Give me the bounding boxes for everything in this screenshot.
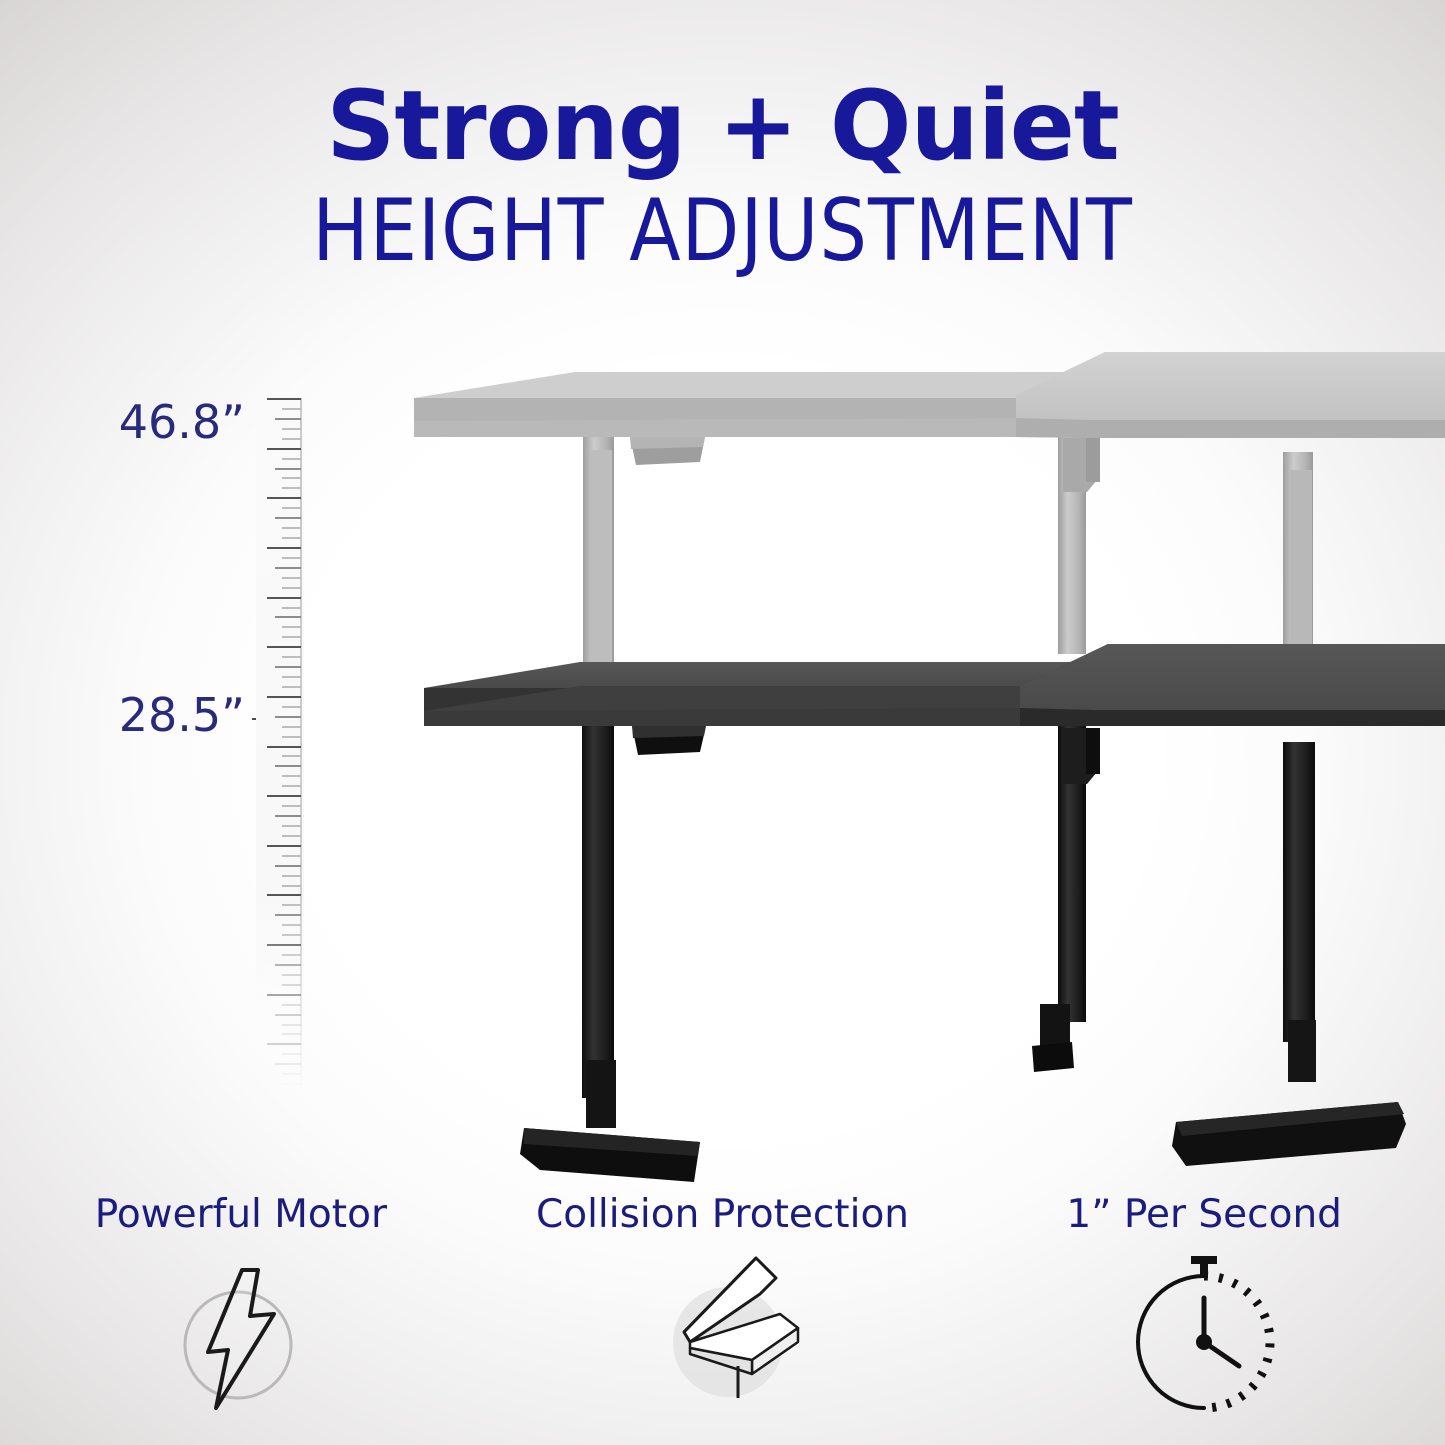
ruler-tick xyxy=(267,795,301,797)
ruler-tick xyxy=(282,438,301,440)
ruler-tick xyxy=(282,1004,301,1006)
ruler-tick xyxy=(282,527,301,529)
ruler-tick xyxy=(282,408,301,410)
ruler-tick xyxy=(275,716,301,718)
ruler-tick xyxy=(282,974,301,976)
ruler-tick xyxy=(275,567,301,569)
headline-block: Strong + Quiet HEIGHT ADJUSTMENT xyxy=(0,78,1445,276)
ruler-tick xyxy=(282,855,301,857)
ruler-tick xyxy=(282,428,301,430)
lowered-desk-leg-right-return xyxy=(1172,742,1406,1166)
ruler-tick xyxy=(282,1083,301,1085)
ruler-tick xyxy=(282,636,301,638)
ruler xyxy=(256,398,304,1093)
feature-collision-protection: Collision Protection xyxy=(482,1195,964,1445)
ruler-tick xyxy=(267,944,301,946)
ruler-tick xyxy=(275,666,301,668)
ruler-tick xyxy=(275,616,301,618)
lowered-desk-leg-corner xyxy=(1032,722,1100,1072)
ruler-tick xyxy=(282,676,301,678)
ruler-tick xyxy=(275,1063,301,1065)
ruler-tick xyxy=(282,587,301,589)
ruler-tick xyxy=(282,557,301,559)
lowered-desk xyxy=(424,644,1445,1182)
raised-desk-control-keypad xyxy=(630,437,705,465)
ruler-tick xyxy=(267,1043,301,1045)
ruler-tick xyxy=(275,964,301,966)
ruler-tick xyxy=(282,775,301,777)
feature-speed-label: 1” Per Second xyxy=(1066,1195,1342,1234)
ruler-tick xyxy=(267,994,301,996)
ruler-tick xyxy=(282,924,301,926)
ruler-tick xyxy=(282,805,301,807)
ruler-tick xyxy=(267,448,301,450)
ruler-tick xyxy=(282,537,301,539)
feature-powerful-motor: Powerful Motor xyxy=(0,1195,482,1445)
ruler-tick xyxy=(275,914,301,916)
ruler-tick xyxy=(282,507,301,509)
lowered-desk-control-keypad xyxy=(632,726,706,755)
min-height-label: 28.5” xyxy=(60,688,245,742)
ruler-tick xyxy=(282,885,301,887)
ruler-tick xyxy=(275,815,301,817)
ruler-tick xyxy=(282,954,301,956)
ruler-tick xyxy=(282,726,301,728)
ruler-tick xyxy=(282,825,301,827)
feature-speed: 1” Per Second xyxy=(963,1195,1445,1445)
ruler-tick xyxy=(282,458,301,460)
ruler-tick xyxy=(282,1053,301,1055)
ruler-tick xyxy=(282,686,301,688)
feature-collision-protection-label: Collision Protection xyxy=(536,1195,909,1234)
ruler-tick xyxy=(282,487,301,489)
raised-desk-main-top xyxy=(414,372,1075,437)
raised-desk-leg-left xyxy=(583,436,614,672)
ruler-tick xyxy=(267,646,301,648)
ruler-tick xyxy=(282,875,301,877)
lowered-desk-return-top xyxy=(1020,644,1445,726)
ruler-tick xyxy=(267,696,301,698)
ruler-tick xyxy=(267,497,301,499)
stopwatch-icon xyxy=(1109,1250,1299,1425)
raised-desk-return-top xyxy=(1016,352,1445,438)
ruler-tick xyxy=(282,835,301,837)
feature-powerful-motor-label: Powerful Motor xyxy=(95,1195,387,1234)
ruler-tick xyxy=(282,904,301,906)
ruler-tick xyxy=(282,607,301,609)
ruler-tick xyxy=(282,934,301,936)
ruler-tick xyxy=(267,746,301,748)
ruler-tick xyxy=(282,755,301,757)
desktop-collision-icon xyxy=(628,1250,818,1425)
ruler-tick xyxy=(282,785,301,787)
raised-desk xyxy=(414,352,1445,672)
ruler-tick xyxy=(282,577,301,579)
ruler-tick xyxy=(275,418,301,420)
lightning-bolt-icon xyxy=(146,1250,336,1425)
infographic-canvas: Strong + Quiet HEIGHT ADJUSTMENT 46.8” 2… xyxy=(0,0,1445,1445)
lowered-desk-leg-left xyxy=(520,726,700,1182)
ruler-tick xyxy=(282,984,301,986)
ruler-tick xyxy=(282,656,301,658)
ruler-tick xyxy=(282,477,301,479)
ruler-tick xyxy=(267,894,301,896)
max-height-label: 46.8” xyxy=(60,395,245,449)
ruler-tick xyxy=(275,468,301,470)
feature-row: Powerful Motor Collision Protection xyxy=(0,1195,1445,1445)
ruler-tick xyxy=(275,765,301,767)
ruler-tick xyxy=(267,547,301,549)
lowered-desk-main-top xyxy=(424,662,1080,726)
headline-secondary: HEIGHT ADJUSTMENT xyxy=(22,186,1424,276)
ruler-tick xyxy=(267,845,301,847)
ruler-tick xyxy=(275,1014,301,1016)
ruler-tick xyxy=(282,1033,301,1035)
ruler-tick xyxy=(282,736,301,738)
ruler-tick xyxy=(282,706,301,708)
ruler-tick xyxy=(275,517,301,519)
headline-primary: Strong + Quiet xyxy=(0,78,1445,174)
ruler-tick xyxy=(267,398,301,400)
raised-desk-leg-right-return xyxy=(1283,452,1313,650)
ruler-tick xyxy=(282,1073,301,1075)
ruler-tick xyxy=(282,1024,301,1026)
ruler-tick xyxy=(282,626,301,628)
ruler-tick xyxy=(275,865,301,867)
ruler-tick xyxy=(267,597,301,599)
raised-desk-leg-corner xyxy=(1058,432,1100,654)
